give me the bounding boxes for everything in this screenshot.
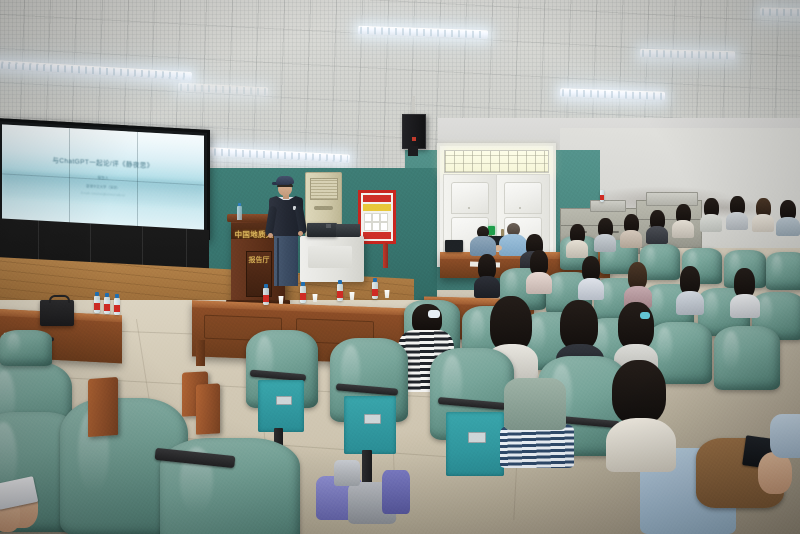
fire-safety-notice-board <box>358 190 396 244</box>
water-bottle <box>263 288 269 305</box>
door-panel <box>451 182 489 214</box>
hair-tie-icon <box>640 312 650 319</box>
foreground-person-with-phone <box>0 468 74 534</box>
person-hair <box>612 360 666 424</box>
control-monitor-secondary[interactable] <box>336 224 360 237</box>
notice-cell <box>380 213 388 222</box>
printer-device <box>590 200 626 212</box>
monitor-stand <box>326 224 331 228</box>
seat-side-panel <box>258 380 304 432</box>
person-striped-trousers <box>500 424 574 468</box>
auditorium-seat[interactable] <box>714 326 780 390</box>
seat-number-plate <box>364 414 381 424</box>
bottle-label <box>600 195 604 200</box>
water-bottle <box>237 206 242 220</box>
pa-speaker-icon <box>402 114 426 149</box>
audience-person <box>646 210 668 242</box>
person-torso <box>578 278 604 300</box>
person-hair <box>618 302 654 350</box>
notice-cell <box>380 222 388 231</box>
bottle-cap <box>338 280 342 284</box>
audience-person <box>620 214 642 246</box>
person-torso <box>646 226 668 244</box>
notice-cell <box>364 222 372 231</box>
row-end-panel <box>196 383 220 434</box>
person-torso <box>594 234 616 252</box>
person-torso <box>474 276 500 298</box>
water-bottle <box>114 298 120 315</box>
person-torso <box>776 217 800 236</box>
person-torso <box>606 418 676 472</box>
table-leg <box>196 340 205 366</box>
screen-display-area: 与ChatGPT一起论/评《静夜思》 报告人 香港中文大学（深圳） E-mail… <box>2 124 204 233</box>
seat-side-panel <box>446 412 504 476</box>
water-bottle <box>600 190 604 202</box>
transom-grid <box>445 151 548 172</box>
person-sleeve <box>770 414 800 458</box>
seat-side-panel <box>344 396 396 454</box>
person-torso <box>676 291 704 315</box>
ac-grille-icon <box>310 178 338 200</box>
tote-bag-purple <box>382 470 410 514</box>
bottle-cap <box>301 282 305 286</box>
audience-person <box>700 198 722 230</box>
fire-extinguisher <box>383 243 388 268</box>
bottle-label <box>263 295 269 302</box>
door-transom-window <box>444 150 549 173</box>
seat-backrest <box>766 252 800 290</box>
bottle-label <box>104 304 110 311</box>
audience-person <box>500 378 574 470</box>
audience-person <box>676 266 704 310</box>
tote-bag-grey <box>334 460 360 486</box>
audience-person <box>730 268 760 314</box>
bottle-cap <box>373 278 377 282</box>
seat-backrest <box>714 326 780 390</box>
control-panel-face <box>308 246 352 268</box>
water-bottle <box>337 284 343 301</box>
bottle-cap <box>264 284 268 288</box>
bottle-cap <box>105 293 109 297</box>
person-torso <box>526 272 552 294</box>
audience-person <box>594 218 616 250</box>
laptop[interactable] <box>445 240 463 252</box>
audience-person <box>578 256 604 296</box>
bottle-label <box>337 291 343 298</box>
presenter-left-hand <box>268 233 273 238</box>
bottle-label <box>94 303 100 310</box>
audience-person <box>606 360 676 470</box>
foreground-hand <box>758 452 792 494</box>
seat-backrest <box>0 330 52 366</box>
audience-person <box>624 262 652 304</box>
notice-band <box>363 232 391 239</box>
seat-number-plate <box>276 396 292 405</box>
door-peep-dot <box>468 207 470 209</box>
person-torso <box>700 214 722 232</box>
audience-person <box>526 250 552 290</box>
pa-speaker-bracket <box>408 146 418 156</box>
audience-person <box>566 224 588 256</box>
notice-band <box>363 195 391 202</box>
bottle-label <box>114 305 120 312</box>
person-top <box>504 378 566 430</box>
presenter-leg-seam <box>277 238 279 286</box>
water-bottle <box>94 296 100 313</box>
av-control-desk <box>300 236 364 282</box>
water-bottle <box>300 286 306 303</box>
row-end-panel <box>88 377 118 437</box>
audience-person <box>474 254 500 294</box>
auditorium-seat[interactable] <box>766 252 800 290</box>
notice-cell <box>364 213 372 222</box>
water-bottle <box>372 282 378 299</box>
person-hair <box>560 300 598 350</box>
bag-handle <box>49 295 70 303</box>
notice-cell <box>372 222 380 231</box>
bottle-cap <box>95 292 99 296</box>
person-torso <box>620 230 642 248</box>
person-torso <box>672 220 694 238</box>
pa-speaker-mount <box>412 96 415 116</box>
door-peep-dot <box>519 207 521 209</box>
bottle-label <box>372 289 378 296</box>
pa-speaker-logo <box>412 137 416 141</box>
equipment-bag <box>40 300 74 326</box>
control-monitor-primary[interactable] <box>307 223 337 237</box>
person-torso <box>730 294 760 318</box>
presenter-cap <box>276 176 294 184</box>
ceiling-light-fixture <box>760 7 800 17</box>
person-torso <box>470 236 496 256</box>
notice-band <box>363 204 391 211</box>
bottle-label <box>300 293 306 300</box>
auditorium-seat[interactable] <box>0 330 52 366</box>
lecture-hall-photo: 与ChatGPT一起论/评《静夜思》 报告人 香港中文大学（深圳） E-mail… <box>0 0 800 534</box>
water-bottle <box>104 297 110 314</box>
seat-number-plate <box>468 432 486 443</box>
person-torso <box>752 214 774 232</box>
hair-clip-icon <box>428 310 440 318</box>
notice-cell <box>372 213 380 222</box>
audience-person <box>672 204 694 236</box>
audience-person <box>726 196 748 228</box>
bottle-cap <box>115 294 119 298</box>
ac-vent-slot <box>314 206 333 210</box>
door-panel <box>504 182 542 214</box>
audience-person <box>776 200 800 234</box>
audience-person <box>752 198 774 230</box>
person-torso <box>726 212 748 230</box>
